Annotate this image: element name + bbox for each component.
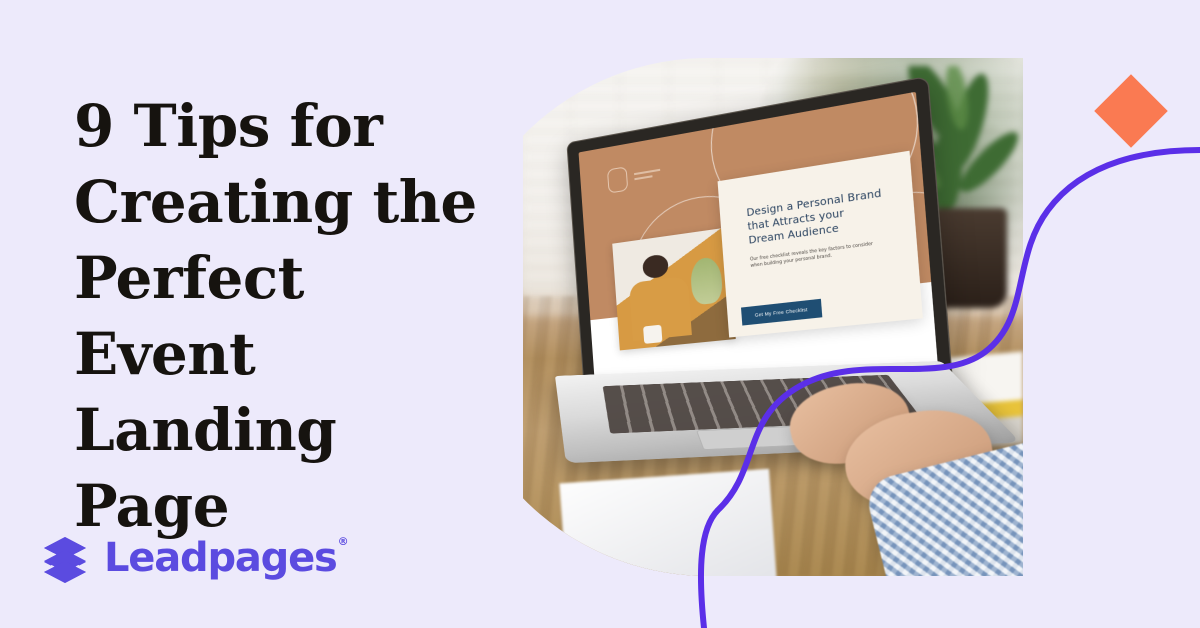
abstract-logo-mark [607,166,628,193]
poster-canvas: 9 Tips for Creating the Perfect Event La… [0,0,1200,628]
screen-brand-text [634,169,661,180]
registered-trademark-icon: ® [338,535,348,548]
laptop-screen: Design a Personal Brand that Attracts yo… [579,92,938,392]
coffee-cup-icon [643,325,662,344]
brand-wordmark: Leadpages® [104,538,346,578]
brand-name-text: Leadpages [104,535,337,581]
hero-photo: Design a Personal Brand that Attracts yo… [523,58,1023,576]
screen-cta-button[interactable]: Get My Free Checklist [741,298,822,325]
person-head [643,254,670,279]
brand-logo[interactable]: Leadpages® [40,533,346,583]
stacked-layers-icon [40,533,90,583]
screen-brand-logo [607,160,661,193]
orange-diamond-icon [1094,74,1168,148]
desk-scene: Design a Personal Brand that Attracts yo… [523,58,1023,576]
plant-decor-icon [689,256,723,306]
screen-headline: Design a Personal Brand that Attracts yo… [746,186,885,247]
page-title: 9 Tips for Creating the Perfect Event La… [74,88,504,544]
screen-offer-card: Design a Personal Brand that Attracts yo… [717,150,922,337]
paper-sheet [559,469,776,576]
screen-photo-card [612,228,735,351]
